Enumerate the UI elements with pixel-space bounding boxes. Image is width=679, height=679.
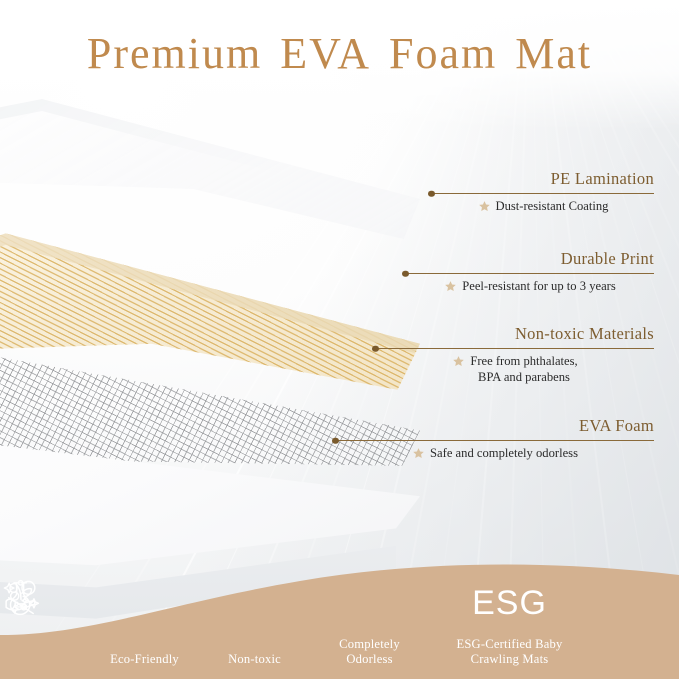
callout-rule (432, 193, 654, 194)
callout-dot (372, 345, 379, 352)
badge-label: Eco-Friendly (90, 652, 200, 667)
callout-subtext: Dust-resistant Coating (496, 198, 609, 214)
badge-label: ESG-Certified BabyCrawling Mats (430, 637, 590, 667)
badge-list: Eco-Friendly Non-toxic (0, 575, 679, 667)
callout-heading: EVA Foam (336, 417, 654, 435)
star-icon (478, 200, 491, 217)
title-word: Premium (87, 29, 262, 78)
callout-subtext: Safe and completely odorless (430, 445, 578, 461)
badge-esg-certified: ESG ESG-Certified BabyCrawling Mats (430, 575, 590, 667)
badge-label: Non-toxic (200, 652, 310, 667)
callout-dot (402, 270, 409, 277)
no-flask-icon (200, 590, 310, 646)
callout-subtext-row: Dust-resistant Coating (432, 198, 654, 217)
callout-subtext-row: Peel-resistant for up to 3 years (406, 278, 654, 297)
callout-dot (332, 437, 339, 444)
badge-label: CompletelyOdorless (310, 637, 430, 667)
page-title: PremiumEVAFoamMat (0, 28, 679, 79)
callout-dot (428, 190, 435, 197)
callout-subtext: Peel-resistant for up to 3 years (462, 278, 616, 294)
title-word: EVA (280, 29, 371, 78)
callout-non-toxic-materials: Non-toxic Materials Free from phthalates… (376, 325, 654, 385)
hand-sprout-icon (90, 590, 200, 646)
callout-subtext-row: Free from phthalates,BPA and parabens (376, 353, 654, 385)
feature-badge-band: Eco-Friendly Non-toxic (0, 539, 679, 679)
callout-rule (376, 348, 654, 349)
badge-non-toxic: Non-toxic (200, 590, 310, 667)
callout-heading: PE Lamination (432, 170, 654, 188)
product-infographic: PremiumEVAFoamMat PE Lamination Dust-res… (0, 0, 679, 679)
esg-text: ESG (472, 586, 547, 620)
star-icon (412, 447, 425, 464)
badge-completely-odorless: CompletelyOdorless (310, 575, 430, 667)
sparkle-bubbles-icon (310, 575, 430, 631)
callout-durable-print: Durable Print Peel-resistant for up to 3… (406, 250, 654, 297)
title-word: Foam (389, 29, 497, 78)
esg-wordmark: ESG (430, 575, 590, 631)
badge-eco-friendly: Eco-Friendly (90, 590, 200, 667)
callout-rule (336, 440, 654, 441)
star-icon (444, 280, 457, 297)
title-word: Mat (515, 29, 592, 78)
callout-subtext: Free from phthalates,BPA and parabens (470, 353, 577, 385)
callout-heading: Non-toxic Materials (376, 325, 654, 343)
callout-pe-lamination: PE Lamination Dust-resistant Coating (432, 170, 654, 217)
callout-eva-foam: EVA Foam Safe and completely odorless (336, 417, 654, 464)
callout-subtext-row: Safe and completely odorless (336, 445, 654, 464)
layered-mat-illustration (0, 95, 440, 555)
star-icon (452, 355, 465, 372)
callout-rule (406, 273, 654, 274)
callout-heading: Durable Print (406, 250, 654, 268)
